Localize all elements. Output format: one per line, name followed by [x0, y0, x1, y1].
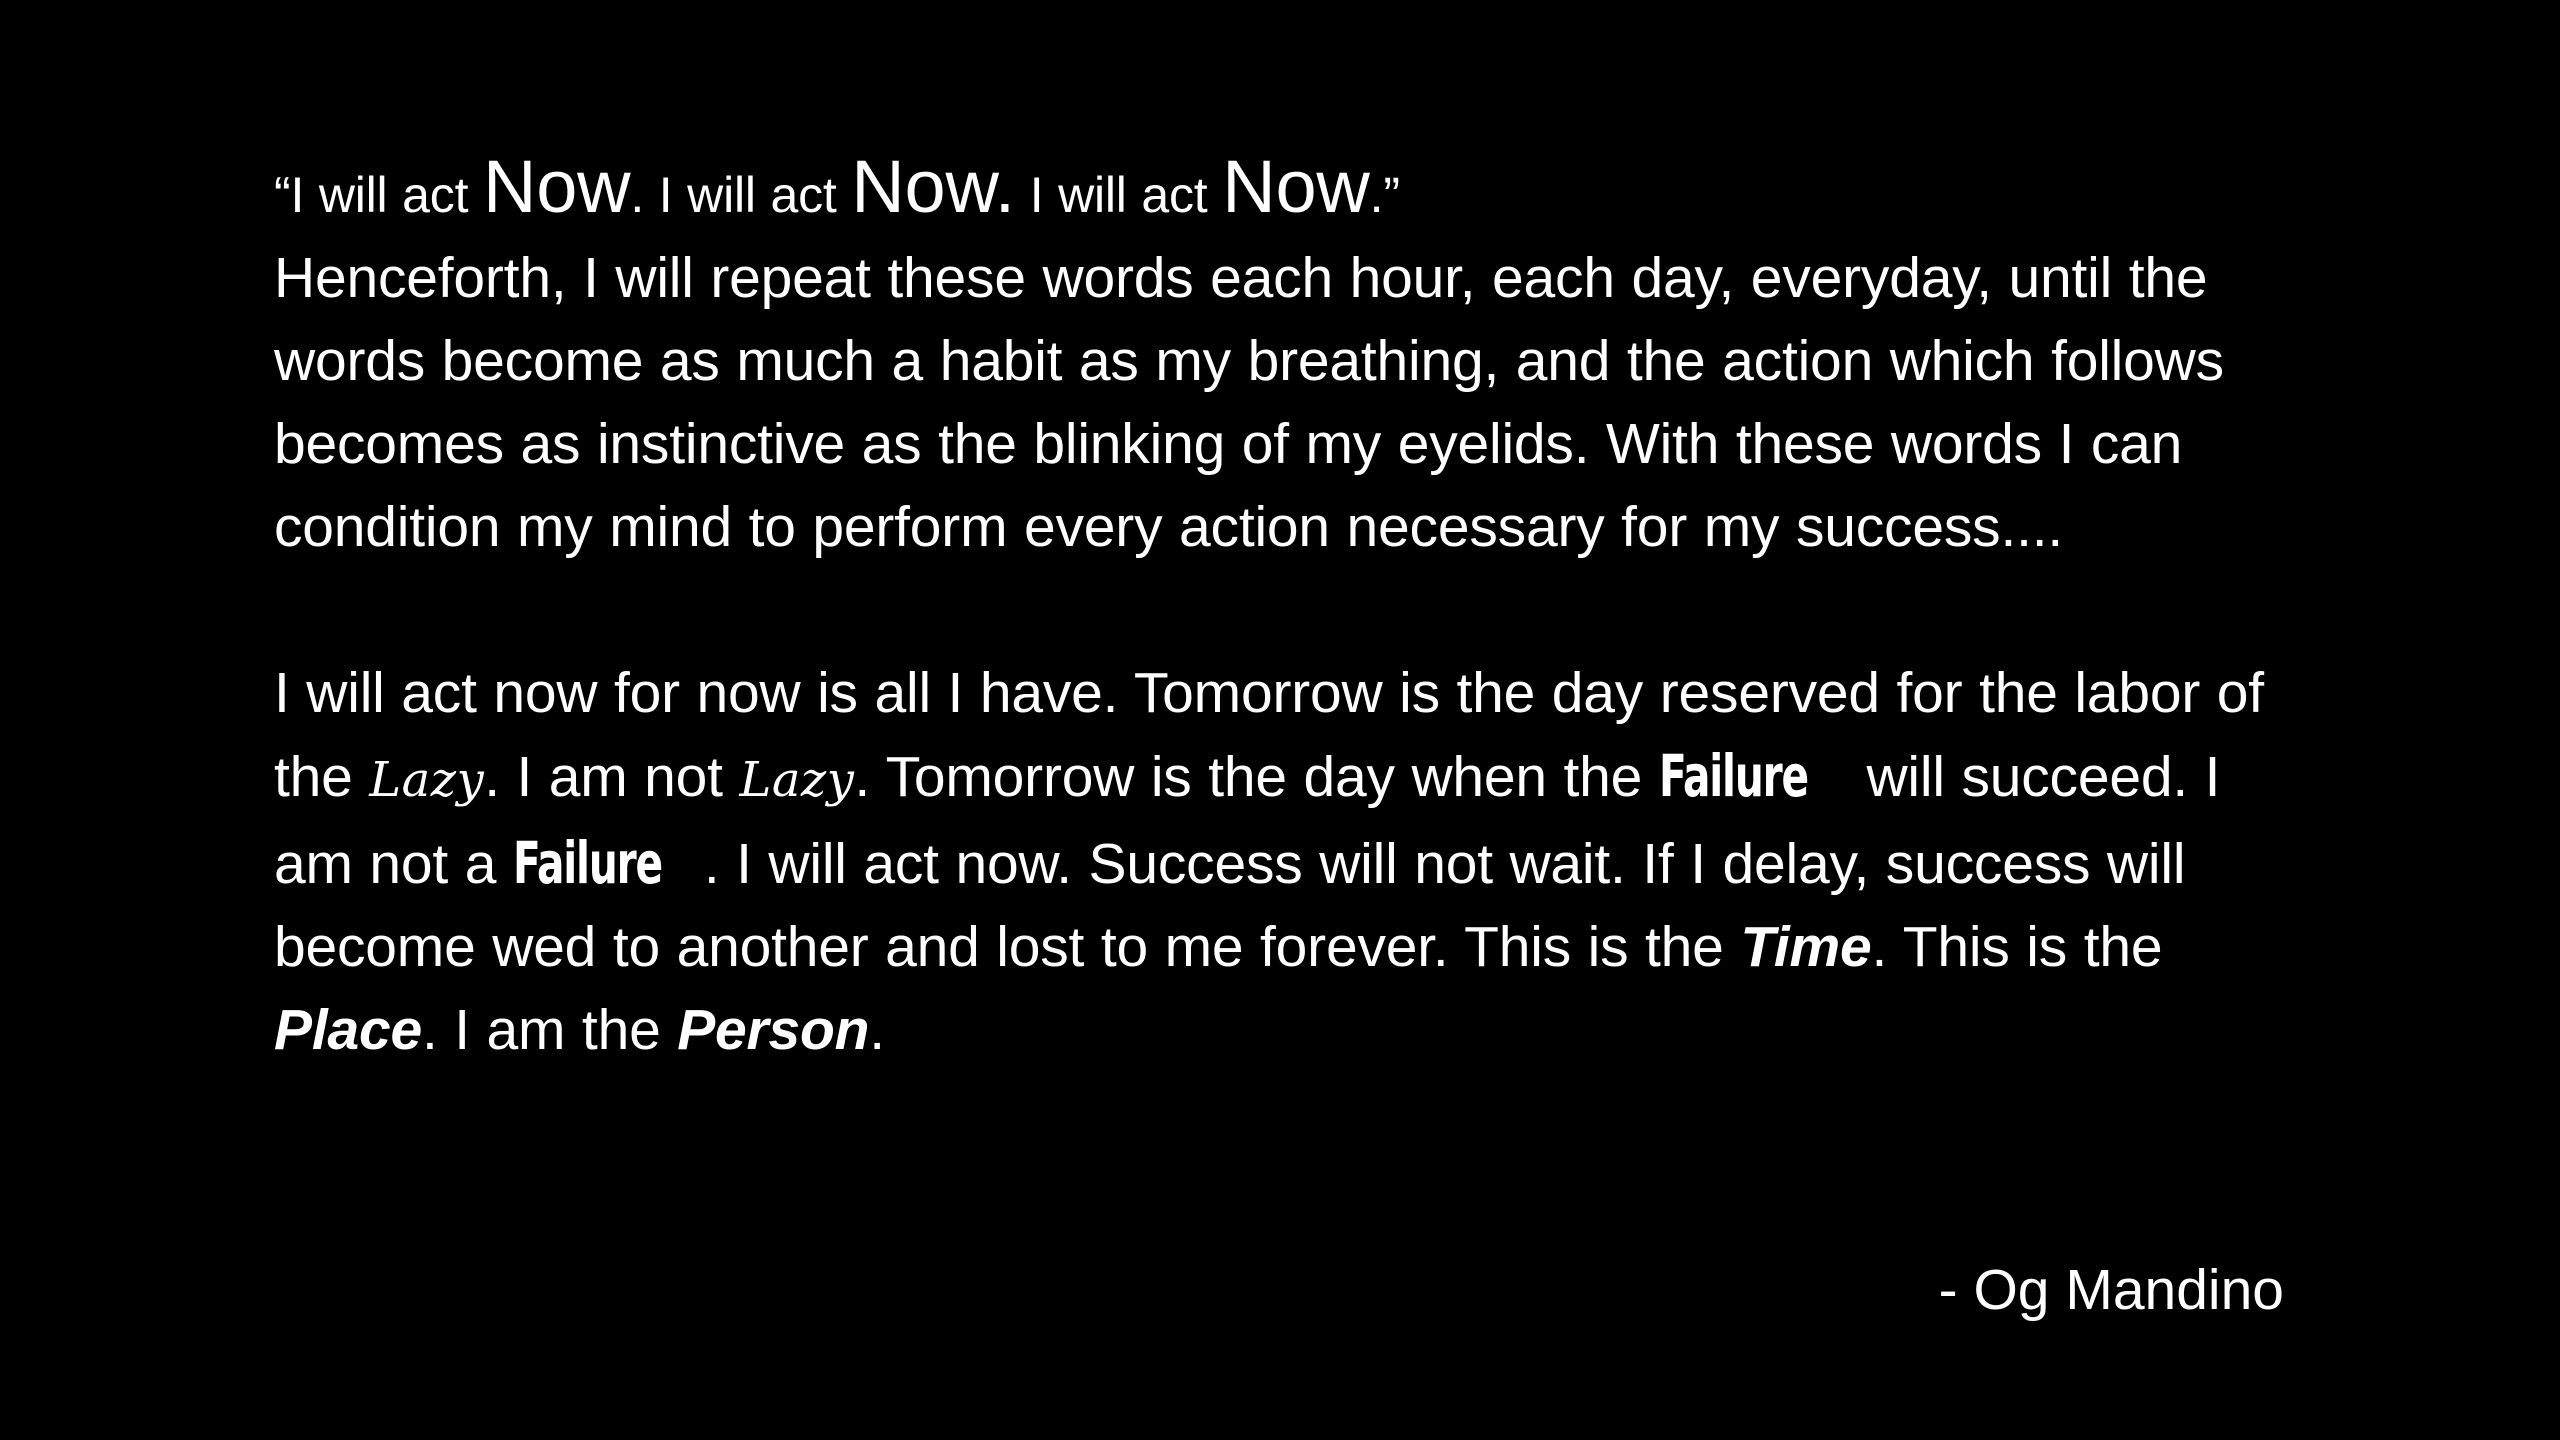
quote-paragraph-one: “I will act Now. I will act Now. I will …: [274, 150, 2284, 569]
quote-paragraph-two: I will act now for now is all I have. To…: [274, 652, 2284, 1072]
quote-emphasis-person: Person: [677, 998, 869, 1062]
quote-p2-seg-3: . Tomorrow is the day when the: [854, 745, 1658, 809]
quote-p2-seg-8: .: [869, 998, 885, 1062]
quote-p2-seg-2: . I am not: [484, 745, 739, 809]
quote-seg-2: . I will act: [630, 167, 851, 223]
quote-emphasis-lazy-2: Lazy: [739, 752, 854, 808]
quote-emphasis-failure-1: Failure: [1659, 735, 1808, 818]
quote-p2-seg-7: . I am the: [422, 998, 677, 1062]
quote-seg-4: I will act: [1015, 167, 1222, 223]
quote-emphasis-now-2: Now.: [851, 145, 1015, 228]
quote-seg-open: “I will act: [274, 167, 483, 223]
quote-p2-seg-6: . This is the: [1872, 915, 2163, 979]
quote-attribution: - Og Mandino: [274, 1255, 2284, 1325]
quote-emphasis-lazy-1: Lazy: [369, 752, 484, 808]
quote-slide: “I will act Now. I will act Now. I will …: [0, 0, 2560, 1440]
quote-emphasis-failure-2: Failure: [513, 822, 662, 905]
quote-seg-close: .”: [1370, 167, 1400, 223]
quote-emphasis-time: Time: [1740, 915, 1871, 979]
quote-emphasis-now-3: Now: [1222, 145, 1369, 228]
quote-text-block: “I will act Now. I will act Now. I will …: [274, 150, 2284, 1072]
quote-emphasis-place: Place: [274, 998, 422, 1062]
quote-emphasis-now-1: Now: [483, 145, 630, 228]
quote-paragraph-one-continuation: Henceforth, I will repeat these words ea…: [274, 246, 2224, 559]
